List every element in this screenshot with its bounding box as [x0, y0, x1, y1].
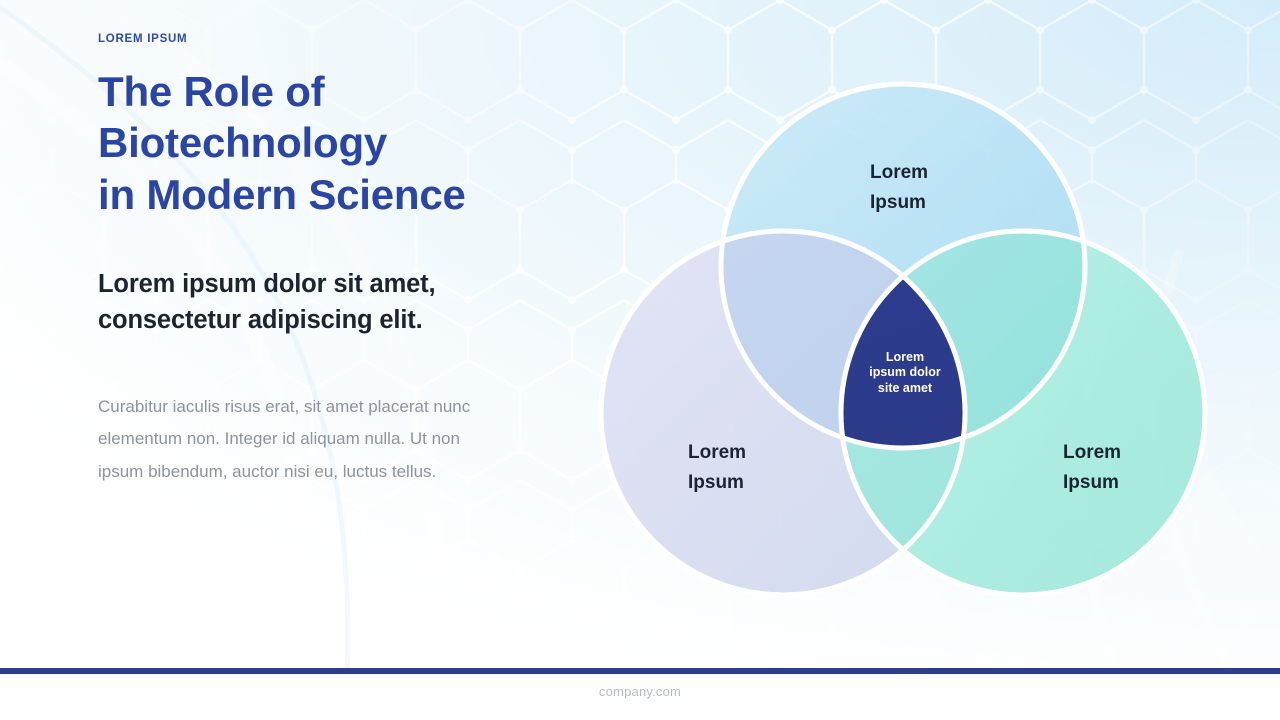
venn-label-center: Lorem ipsum dolor site amet [851, 350, 959, 396]
venn-label-left: Lorem Ipsum [688, 438, 746, 499]
subheading: Lorem ipsum dolor sit amet, consectetur … [98, 267, 598, 337]
venn-diagram: Lorem Ipsum Lorem Ipsum Lorem Ipsum Lore… [575, 60, 1235, 640]
text-column: LOREM IPSUM The Role of Biotechnology in… [98, 34, 598, 489]
body-paragraph: Curabitur iaculis risus erat, sit amet p… [98, 391, 493, 489]
page-title: The Role of Biotechnology in Modern Scie… [98, 66, 598, 221]
footer-website: company.com [0, 684, 1280, 699]
slide-content: LOREM IPSUM The Role of Biotechnology in… [0, 0, 1280, 668]
eyebrow-label: LOREM IPSUM [98, 34, 598, 46]
venn-label-top: Lorem Ipsum [870, 158, 928, 219]
footer: company.com [0, 674, 1280, 720]
slide-canvas: LOREM IPSUM The Role of Biotechnology in… [0, 0, 1280, 720]
venn-label-right: Lorem Ipsum [1063, 438, 1121, 499]
